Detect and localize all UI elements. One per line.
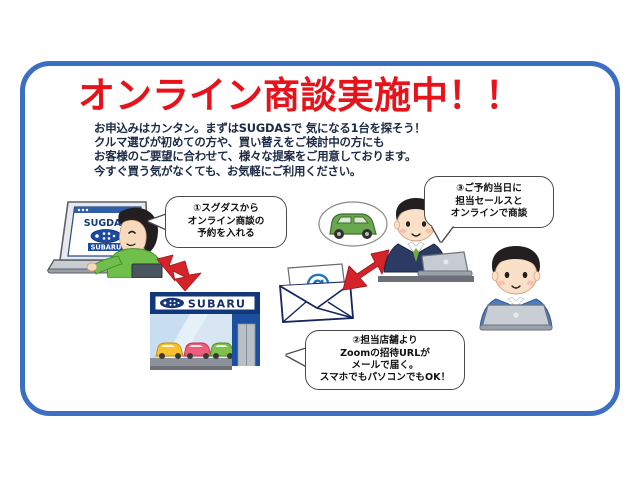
step-2-line-2: Zoomの招待URLが	[340, 348, 430, 360]
step-2-bubble: ②担当店舗より Zoomの招待URLが メールで届く。 スマホでもパソコンでもO…	[305, 330, 465, 390]
bubble-3-tail	[432, 226, 453, 242]
dealership-sign-text: SUBARU	[188, 298, 246, 311]
illustration-customer-browsing: SUGDAS SUBARU	[46, 186, 166, 278]
step-3-line-3: オンラインで商談	[451, 208, 528, 220]
body-line-1: お申込みはカンタン。まずはSUGDASで 気になる1台を探そう！	[94, 121, 494, 135]
body-line-2: クルマ選びが初めての方や、買い替えをご検討中の方にも	[94, 135, 494, 149]
step-1-line-3: 予約を入れる	[197, 228, 255, 240]
step-2-line-1: ②担当店舗より	[352, 335, 418, 347]
step-3-bubble: ③ご予約当日に 担当セールスと オンラインで商談	[424, 176, 554, 228]
illustration-subaru-dealership: SUBARU	[150, 292, 279, 380]
step-2-line-4: スマホでもパソコンでもOK！	[320, 372, 450, 384]
step-1-bubble: ①スグダスから オンライン商談の 予約を入れる	[165, 196, 287, 248]
laptop-screen-subaru-text: SUBARU	[91, 243, 122, 251]
body-line-3: お客様のご要望に合わせて、様々な提案をご用意しております。	[94, 149, 494, 163]
red-arrow-down-right-icon	[155, 253, 203, 293]
step-2-line-3: メールで届く。	[351, 360, 418, 372]
illustration-customer-online	[474, 245, 564, 331]
step-1-line-1: ①スグダスから	[193, 203, 259, 215]
step-3-line-2: 担当セールスと	[455, 196, 522, 208]
body-copy: お申込みはカンタン。まずはSUGDASで 気になる1台を探そう！ クルマ選びが初…	[94, 121, 494, 178]
page-title: オンライン商談実施中！！	[78, 76, 498, 116]
step-1-line-2: オンライン商談の	[188, 216, 265, 228]
poster-canvas: オンライン商談実施中！！ お申込みはカンタン。まずはSUGDASで 気になる1台…	[0, 0, 640, 480]
step-3-line-1: ③ご予約当日に	[456, 183, 522, 195]
